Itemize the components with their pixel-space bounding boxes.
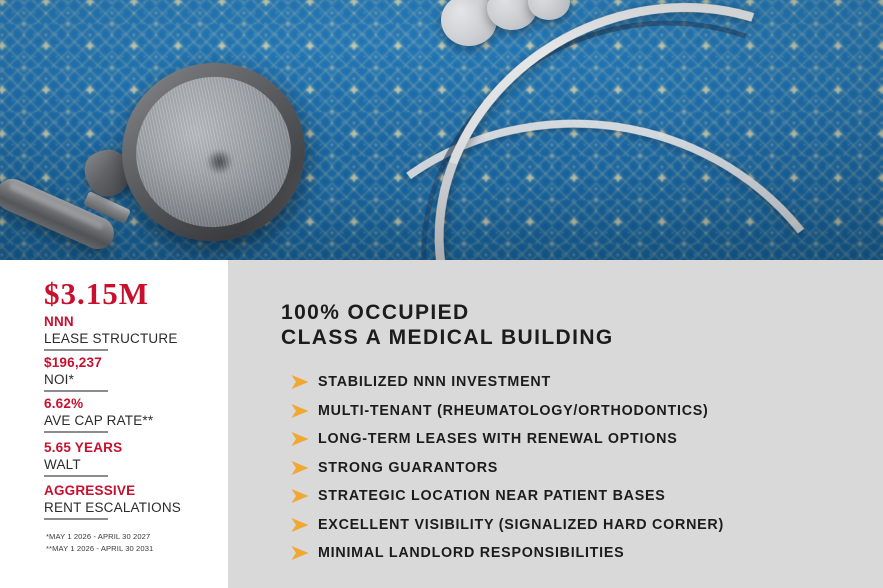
list-item-label: MULTI-TENANT (RHEUMATOLOGY/ORTHODONTICS): [318, 403, 709, 419]
stat-divider: [44, 349, 108, 351]
stat-value: $196,237: [44, 355, 219, 371]
stat-label: AVE CAP RATE**: [44, 412, 219, 429]
highlights-list: STABILIZED NNN INVESTMENT MULTI-TENANT (…: [290, 368, 850, 568]
arrow-bullet-icon: [290, 517, 310, 533]
stat-label: LEASE STRUCTURE: [44, 330, 219, 347]
stat-lease-structure: NNN LEASE STRUCTURE: [44, 314, 219, 351]
gray-content-panel: 100% OCCUPIED CLASS A MEDICAL BUILDING S…: [228, 260, 883, 588]
list-item: STRATEGIC LOCATION NEAR PATIENT BASES: [290, 482, 850, 511]
stat-value: AGGRESSIVE: [44, 483, 219, 499]
arrow-bullet-icon: [290, 488, 310, 504]
list-item: EXCELLENT VISIBILITY (SIGNALIZED HARD CO…: [290, 511, 850, 540]
list-item: LONG-TERM LEASES WITH RENEWAL OPTIONS: [290, 425, 850, 454]
arrow-bullet-icon: [290, 460, 310, 476]
hero-photo-stethoscope: [0, 0, 883, 260]
stat-divider: [44, 390, 108, 392]
stat-divider: [44, 431, 108, 433]
arrow-bullet-icon: [290, 431, 310, 447]
stat-ave-cap-rate: 6.62% AVE CAP RATE**: [44, 396, 219, 433]
stat-label: RENT ESCALATIONS: [44, 499, 219, 516]
stat-value: 6.62%: [44, 396, 219, 412]
list-item: MINIMAL LANDLORD RESPONSIBILITIES: [290, 539, 850, 568]
list-item-label: STRATEGIC LOCATION NEAR PATIENT BASES: [318, 488, 666, 504]
list-item-label: LONG-TERM LEASES WITH RENEWAL OPTIONS: [318, 431, 678, 447]
arrow-bullet-icon: [290, 403, 310, 419]
headline-line-1: 100% OCCUPIED: [281, 300, 470, 326]
stat-divider: [44, 518, 108, 520]
footnote-line: **MAY 1 2026 - APRIL 30 2031: [46, 543, 153, 555]
info-section: 100% OCCUPIED CLASS A MEDICAL BUILDING S…: [0, 260, 883, 588]
footnote-line: *MAY 1 2026 - APRIL 30 2027: [46, 531, 153, 543]
list-item-label: STRONG GUARANTORS: [318, 460, 498, 476]
price-headline: $3.15M: [44, 276, 149, 312]
stat-noi: $196,237 NOI*: [44, 355, 219, 392]
list-item: STABILIZED NNN INVESTMENT: [290, 368, 850, 397]
list-item-label: STABILIZED NNN INVESTMENT: [318, 374, 551, 390]
stat-value: NNN: [44, 314, 219, 330]
headline-line-2: CLASS A MEDICAL BUILDING: [281, 325, 614, 351]
arrow-bullet-icon: [290, 374, 310, 390]
stat-walt: 5.65 YEARS WALT: [44, 440, 219, 477]
stat-divider: [44, 475, 108, 477]
arrow-bullet-icon: [290, 545, 310, 561]
list-item: MULTI-TENANT (RHEUMATOLOGY/ORTHODONTICS): [290, 397, 850, 426]
stat-label: NOI*: [44, 371, 219, 388]
stats-panel: $3.15M NNN LEASE STRUCTURE $196,237 NOI*…: [0, 260, 228, 588]
stat-rent-escalations: AGGRESSIVE RENT ESCALATIONS: [44, 483, 219, 520]
photo-vignette: [0, 0, 883, 260]
stat-label: WALT: [44, 456, 219, 473]
list-item-label: EXCELLENT VISIBILITY (SIGNALIZED HARD CO…: [318, 517, 724, 533]
stat-value: 5.65 YEARS: [44, 440, 219, 456]
slide-root: 100% OCCUPIED CLASS A MEDICAL BUILDING S…: [0, 0, 883, 588]
list-item: STRONG GUARANTORS: [290, 454, 850, 483]
footnotes: *MAY 1 2026 - APRIL 30 2027 **MAY 1 2026…: [46, 531, 153, 555]
list-item-label: MINIMAL LANDLORD RESPONSIBILITIES: [318, 545, 624, 561]
